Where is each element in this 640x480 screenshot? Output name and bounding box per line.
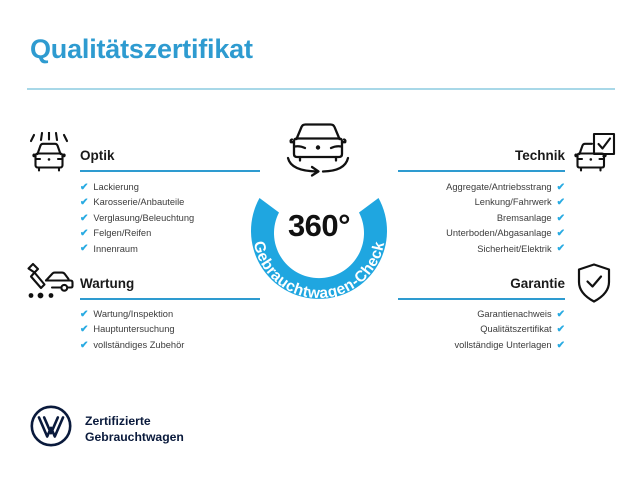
page-title: Qualitätszertifikat [30, 34, 253, 65]
shield-check-icon [573, 262, 615, 311]
list-item-label: Felgen/Reifen [93, 226, 151, 241]
list-item-label: Qualitätszertifikat [480, 322, 551, 337]
check-icon: ✔ [557, 183, 565, 193]
footer-line-1: Zertifizierte [85, 414, 151, 428]
list-item: vollständige Unterlagen ✔ [454, 338, 565, 353]
list-item: Lenkung/Fahrwerk ✔ [446, 195, 565, 210]
checklist-technik: Aggregate/Antriebsstrang ✔ Lenkung/Fahrw… [446, 180, 565, 257]
check-icon: ✔ [557, 244, 565, 254]
section-divider-technik [398, 170, 565, 172]
check-icon: ✔ [557, 341, 565, 351]
list-item-label: Bremsanlage [497, 211, 552, 226]
check-icon: ✔ [80, 325, 88, 335]
check-icon: ✔ [80, 229, 88, 239]
list-item-label: Innenraum [93, 242, 137, 257]
car-shine-icon [24, 132, 74, 181]
list-item: ✔ Felgen/Reifen [80, 226, 194, 241]
list-item: Garantienachweis ✔ [454, 307, 565, 322]
wrench-car-icon [24, 262, 76, 311]
list-item: Unterboden/Abgasanlage ✔ [446, 226, 565, 241]
title-divider [27, 88, 615, 90]
check-icon: ✔ [557, 310, 565, 320]
list-item: Bremsanlage ✔ [446, 211, 565, 226]
list-item: ✔ Karosserie/Anbauteile [80, 195, 194, 210]
list-item: ✔ vollständiges Zubehör [80, 338, 184, 353]
section-heading-garantie: Garantie [510, 276, 565, 291]
car-checkbox-icon [568, 132, 616, 181]
volkswagen-logo [30, 405, 72, 452]
list-item-label: Lackierung [93, 180, 138, 195]
footer-line-2: Gebrauchtwagen [85, 430, 184, 444]
list-item: ✔ Wartung/Inspektion [80, 307, 184, 322]
list-item-label: Verglasung/Beleuchtung [93, 211, 194, 226]
checklist-optik: ✔ Lackierung ✔ Karosserie/Anbauteile ✔ V… [80, 180, 194, 257]
list-item-label: Hauptuntersuchung [93, 322, 174, 337]
list-item: ✔ Lackierung [80, 180, 194, 195]
section-divider-garantie [398, 298, 565, 300]
section-heading-wartung: Wartung [80, 276, 134, 291]
list-item-label: vollständige Unterlagen [454, 338, 551, 353]
footer-branding: Zertifizierte Gebrauchtwagen [30, 405, 184, 452]
list-item: Aggregate/Antriebsstrang ✔ [446, 180, 565, 195]
list-item: ✔ Verglasung/Beleuchtung [80, 211, 194, 226]
list-item-label: Garantienachweis [477, 307, 551, 322]
list-item: ✔ Hauptuntersuchung [80, 322, 184, 337]
list-item-label: Wartung/Inspektion [93, 307, 173, 322]
section-heading-technik: Technik [515, 148, 565, 163]
check-icon: ✔ [80, 183, 88, 193]
list-item-label: vollständiges Zubehör [93, 338, 184, 353]
check-icon: ✔ [80, 310, 88, 320]
list-item: ✔ Innenraum [80, 242, 194, 257]
check-icon: ✔ [80, 198, 88, 208]
check-icon: ✔ [80, 341, 88, 351]
list-item: Sicherheit/Elektrik ✔ [446, 242, 565, 257]
footer-branding-text: Zertifizierte Gebrauchtwagen [85, 413, 184, 445]
section-heading-optik: Optik [80, 148, 115, 163]
list-item-label: Lenkung/Fahrwerk [475, 195, 552, 210]
list-item-label: Sicherheit/Elektrik [477, 242, 551, 257]
checklist-garantie: Garantienachweis ✔ Qualitätszertifikat ✔… [454, 307, 565, 353]
car-front-rotate-icon [279, 116, 357, 183]
checklist-wartung: ✔ Wartung/Inspektion ✔ Hauptuntersuchung… [80, 307, 184, 353]
list-item-label: Karosserie/Anbauteile [93, 195, 184, 210]
check-icon: ✔ [557, 214, 565, 224]
qualitaetszertifikat-page: Qualitätszertifikat Optik [0, 0, 640, 480]
check-icon: ✔ [80, 244, 88, 254]
list-item: Qualitätszertifikat ✔ [454, 322, 565, 337]
list-item-label: Unterboden/Abgasanlage [446, 226, 551, 241]
list-item-label: Aggregate/Antriebsstrang [446, 180, 551, 195]
check-icon: ✔ [557, 229, 565, 239]
check-icon: ✔ [557, 325, 565, 335]
check-icon: ✔ [80, 214, 88, 224]
check-icon: ✔ [557, 198, 565, 208]
